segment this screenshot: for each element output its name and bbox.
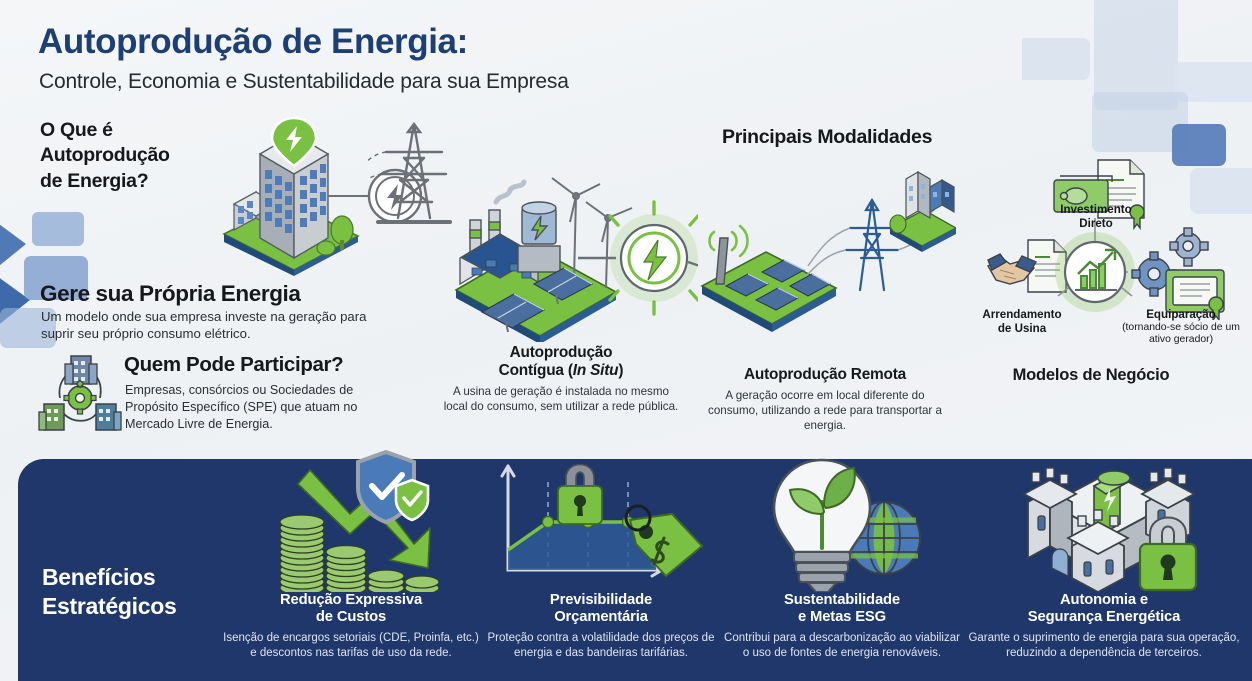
benefit-3-title-line1: Sustentabilidade [784,592,900,608]
benefit-4-description: Garante o suprimento de energia para sua… [958,631,1250,660]
benefits-panel-title: Benefícios Estratégicos [42,563,176,621]
benefit-2-description: Proteção contra a volatilidade dos preço… [472,631,730,660]
office-building-grid-illustration [176,114,422,276]
contigua-title: Autoprodução Contígua (In Situ) [442,344,680,380]
benefit-1-title: Redução Expressiva de Custos [220,592,482,627]
benefit-1-title-line1: Redução Expressiva [280,592,422,608]
benefit-reducao-custos: Redução Expressiva de Custos Isenção de … [220,592,482,660]
equiparacao-sub: (tornando-se sócio de um ativo gerador) [1110,322,1252,347]
what-is-line-3: de Energia? [40,169,170,194]
label-arrendamento-de-usina: Arrendamento de Usina [952,308,1092,335]
what-is-line-2: Autoprodução [40,143,170,168]
section-heading-generate-own-energy: Gere sua Própria Energia [40,281,301,307]
business-models-illustration [950,148,1240,320]
remota-description: A geração ocorre em local diferente do c… [700,388,950,433]
arrendamento-line-2: de Usina [998,322,1046,335]
transmission-tower-icon [368,118,460,230]
benefit-4-title: Autonomia e Segurança Energética [958,592,1250,627]
benefit-2-title-line1: Previsibilidade [550,592,652,608]
benefit-3-title: Sustentabilidade e Metas ESG [722,592,962,627]
benefit-4-title-line1: Autonomia e [1060,592,1148,608]
section-heading-what-is: O Que é Autoprodução de Energia? [40,118,170,194]
arrendamento-line-1: Arrendamento [982,308,1061,321]
equiparacao-line-1: Equiparação [1146,308,1216,321]
section-heading-who-can-participate: Quem Pode Participar? [124,353,343,377]
infographic-poster: Autoprodução de Energia: Controle, Econo… [0,0,1252,681]
benefit-3-description: Contribui para a descarbonização ao viab… [722,631,962,660]
benefit-previsibilidade-orcamentaria: Previsibilidade Orçamentária Proteção co… [472,592,730,660]
caption-autoproducao-remota: Autoprodução Remota A geração ocorre em … [700,366,950,433]
background-squares-decoration [1022,0,1252,215]
benefit-3-title-line2: e Metas ESG [798,609,886,625]
label-equiparacao: Equiparação (tornando-se sócio de um ati… [1110,308,1252,347]
contigua-title-line2-end: ) [618,362,623,379]
generate-own-energy-description: Um modelo onde sua empresa investe na ge… [41,308,381,343]
page-subtitle: Controle, Economia e Sustentabilidade pa… [39,70,569,94]
remote-generation-illustration [690,166,956,344]
investimento-line-1: Investimento [1060,203,1132,216]
benefit-1-description: Isenção de encargos setoriais (CDE, Proi… [220,631,482,660]
investimento-line-2: Direto [1079,217,1113,230]
who-can-participate-description: Empresas, consórcios ou Sociedades de Pr… [125,382,387,433]
contigua-title-line2: Contígua ( [499,362,573,379]
benefit-4-title-line2: Segurança Energética [1028,609,1180,625]
benefit-2-title: Previsibilidade Orçamentária [472,592,730,627]
benefits-title-line-2: Estratégicos [42,593,176,619]
benefit-autonomia-seguranca: Autonomia e Segurança Energética Garante… [958,592,1250,660]
remota-title: Autoprodução Remota [700,366,950,384]
benefit-sustentabilidade-esg: Sustentabilidade e Metas ESG Contribui p… [722,592,962,660]
benefit-2-title-line2: Orçamentária [554,609,648,625]
modelos-title: Modelos de Negócio [958,366,1224,385]
contigua-title-italic: In Situ [573,362,619,379]
caption-modelos-de-negocio: Modelos de Negócio [958,366,1224,385]
benefits-title-line-1: Benefícios [42,564,155,590]
contigua-description: A usina de geração é instalada no mesmo … [442,384,680,414]
label-investimento-direto: Investimento Direto [1028,203,1164,230]
contigua-title-line1: Autoprodução [510,344,613,361]
section-heading-main-modalities: Principais Modalidades [722,126,932,149]
onsite-generation-illustration [448,172,698,342]
companies-network-icon [38,352,122,434]
page-title: Autoprodução de Energia: [38,22,468,62]
benefit-1-title-line2: de Custos [316,609,386,625]
caption-autoproducao-contigua: Autoprodução Contígua (In Situ) A usina … [442,344,680,414]
what-is-line-1: O Que é [40,118,170,143]
